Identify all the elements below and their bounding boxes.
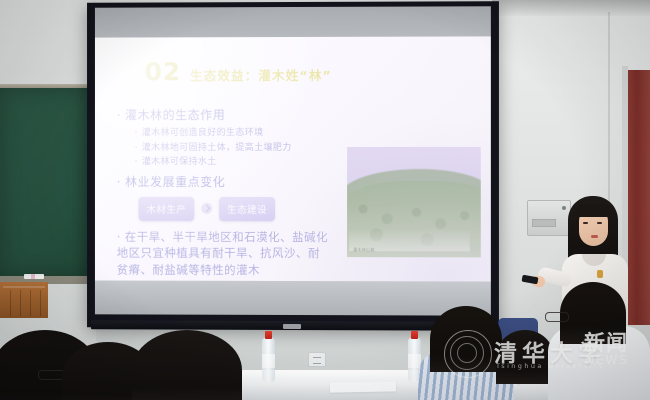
eyeglasses-icon [545, 312, 569, 322]
classroom-photo: 02 生态效益：灌木姓“林” 灌木林的生态作用 灌木林可创造良好的生态环境 灌木… [0, 0, 650, 400]
wall-corner-line [608, 12, 610, 212]
screen-surface: 02 生态效益：灌木姓“林” 灌木林的生态作用 灌木林可创造良好的生态环境 灌木… [95, 6, 491, 315]
ceiling-shadow [492, 0, 650, 16]
water-bottle [262, 338, 275, 382]
bullet-level1-forestry-shift: 林业发展重点变化 [117, 174, 331, 191]
arrow-right-icon [201, 203, 212, 214]
blackboard [0, 88, 88, 276]
bullet-level2-item: 灌木林可创造良好的生态环境 [135, 126, 331, 141]
bullet-level1-ecological-role: 灌木林的生态作用 [117, 107, 331, 125]
slide-title-row: 02 生态效益：灌木姓“林” [145, 59, 332, 84]
screen-blank-bottom [95, 280, 491, 315]
projection-screen: 02 生态效益：灌木姓“林” 灌木林的生态作用 灌木林可创造良好的生态环境 灌木… [87, 1, 499, 329]
slide-section-number: 02 [145, 59, 182, 84]
list-item [132, 330, 242, 400]
chip-ecological-construction: 生态建设 [219, 197, 275, 221]
presenter-bangs [576, 204, 611, 217]
presenter-badge [597, 270, 603, 278]
photo-caption: 灌木林山坡 [353, 247, 375, 253]
slide-title: 生态效益：灌木姓“林” [190, 65, 332, 84]
papers-on-desk [330, 381, 396, 392]
transition-chips: 木材生产 生态建设 [139, 197, 331, 221]
presenter-mouth [591, 235, 598, 238]
bullet-level2-item: 灌木林地可固持土体，提高土壤肥力 [135, 141, 331, 155]
chalk-pieces [24, 274, 44, 279]
watermark-news-en: NEWS [585, 353, 629, 367]
screen-blank-top [95, 6, 491, 37]
watermark-news: 新闻 NEWS [584, 327, 646, 371]
bullet-level2-item: 灌木林可保持水土 [135, 155, 331, 169]
presentation-slide: 02 生态效益：灌木姓“林” 灌木林的生态作用 灌木林可创造良好的生态环境 灌木… [95, 36, 491, 281]
presenter-eye-right [597, 222, 602, 224]
wall-outlet [308, 352, 326, 367]
presenter-eye-left [583, 222, 588, 224]
tsinghua-seal-icon [444, 330, 492, 378]
chip-timber-production: 木材生产 [139, 197, 195, 221]
slide-photo-shrub-hillside: 灌木林山坡 [347, 147, 481, 257]
bullet-arid-regions: 在干旱、半干旱地区和石漠化、盐碱化地区只宜种植具有耐干旱、抗风沙、耐贫瘠、耐盐碱… [117, 229, 331, 278]
wooden-cabinet [0, 282, 48, 318]
screen-pull-handle [283, 324, 301, 329]
classroom-door [628, 70, 650, 325]
slide-body: 灌木林的生态作用 灌木林可创造良好的生态环境 灌木林地可固持土体，提高土壤肥力 … [117, 107, 331, 278]
bullet-sublist: 灌木林可创造良好的生态环境 灌木林地可固持土体，提高土壤肥力 灌木林可保持水土 [135, 126, 331, 169]
